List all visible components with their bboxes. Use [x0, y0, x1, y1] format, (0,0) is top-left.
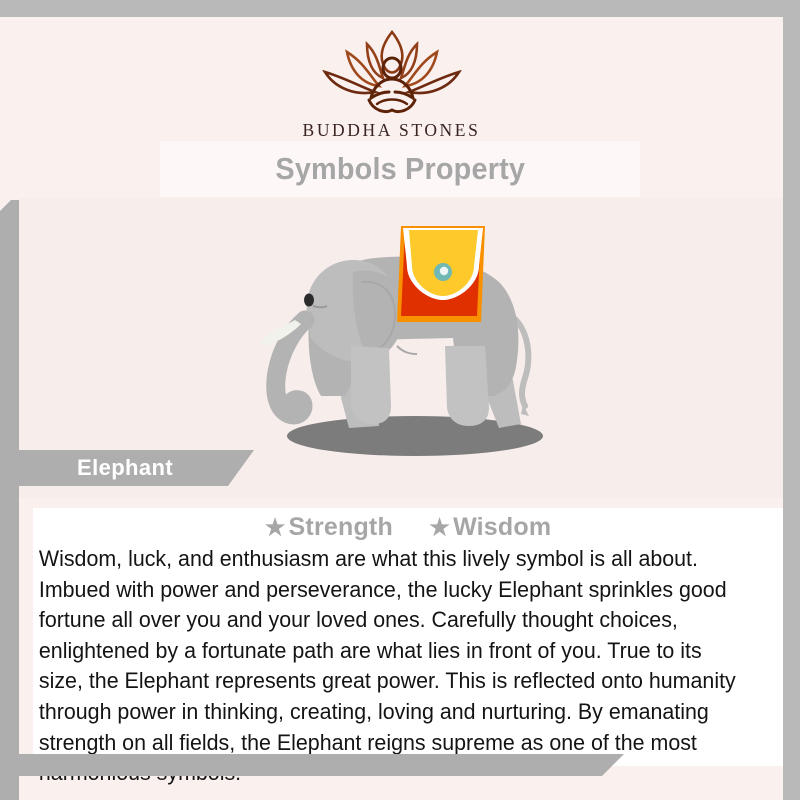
symbol-name-banner: Elephant [19, 450, 254, 486]
frame-right-border [783, 0, 800, 800]
left-accent-bar [0, 200, 19, 800]
symbol-name: Elephant [77, 455, 173, 481]
page-title: Symbols Property [275, 151, 525, 187]
description-text: Wisdom, luck, and enthusiasm are what th… [36, 544, 753, 789]
brand-logo: BUDDHA STONES [0, 18, 783, 141]
bottom-accent-band [19, 754, 624, 776]
trait-strength: ★Strength [265, 513, 393, 541]
trait-strength-label: Strength [289, 513, 393, 541]
elephant-eye [304, 294, 314, 307]
symbol-property-card: BUDDHA STONES Symbols Property [0, 0, 800, 800]
trait-list: ★Strength ★Wisdom [33, 508, 783, 542]
title-band: Symbols Property [160, 141, 640, 197]
elephant-illustration [249, 220, 579, 475]
trait-wisdom: ★Wisdom [429, 513, 551, 541]
description-panel: ★Strength ★Wisdom Wisdom, luck, and enth… [33, 508, 783, 766]
lotus-meditation-icon [307, 18, 477, 118]
brand-name: BUDDHA STONES [0, 120, 783, 141]
star-icon-2: ★ [429, 514, 450, 540]
trait-wisdom-label: Wisdom [453, 513, 551, 541]
star-icon: ★ [265, 514, 286, 540]
frame-top-border [0, 0, 800, 17]
